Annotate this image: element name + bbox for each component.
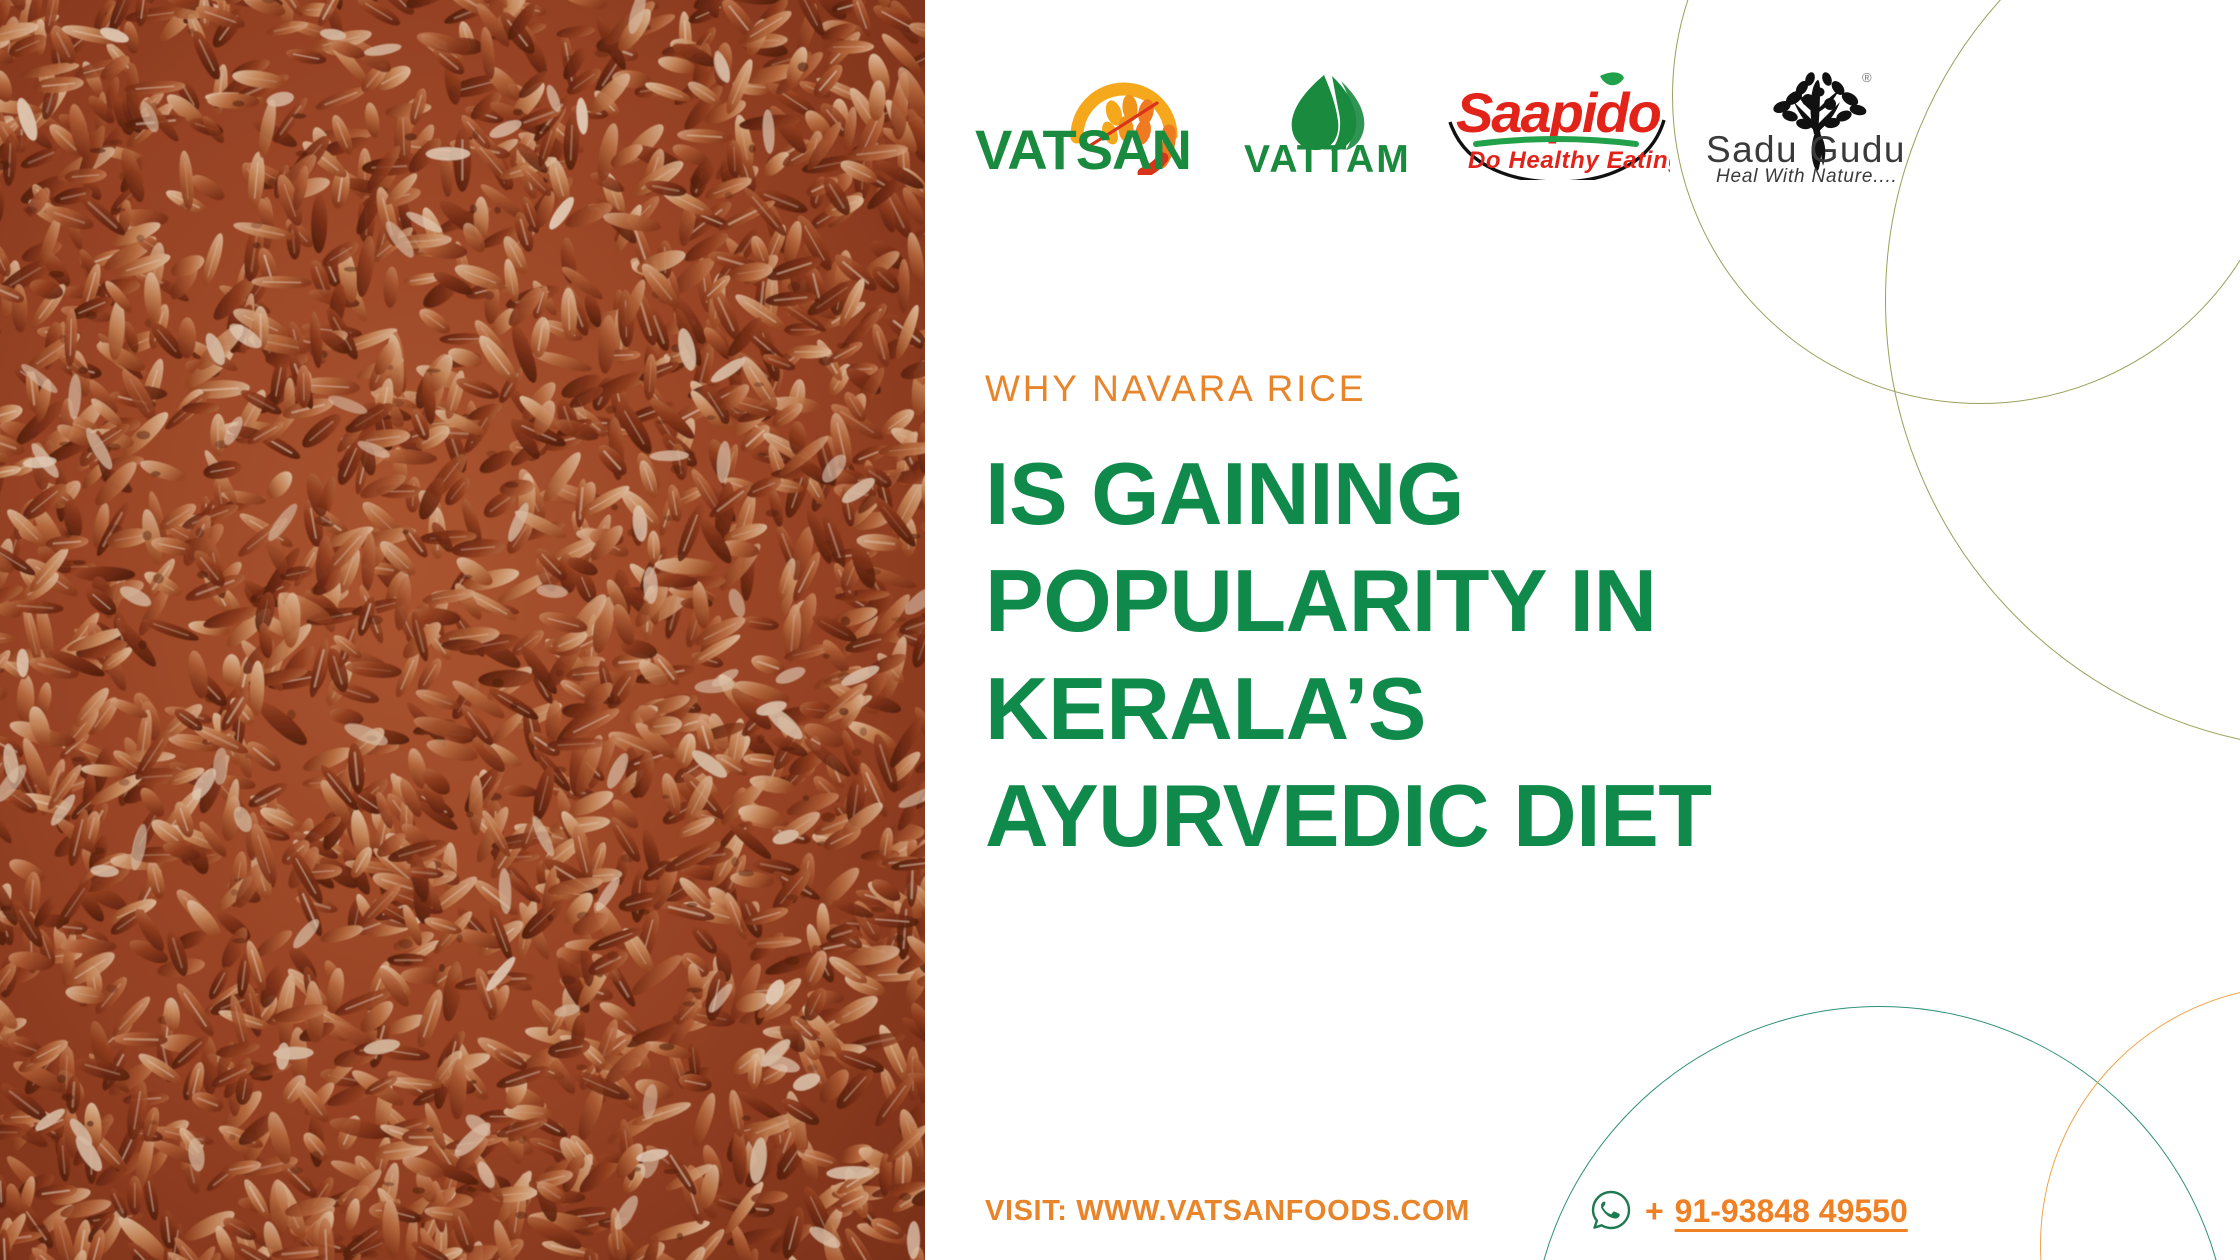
headline-line-3: KERALA’S	[985, 655, 2165, 762]
phone-prefix: +	[1645, 1193, 1664, 1230]
headline-line-2: POPULARITY IN	[985, 547, 2165, 654]
vatsan-wordmark: VATSAN	[975, 118, 1191, 175]
brand-logo-row: VATSAN VATTAM Saapido Do Healthy Eatin	[965, 46, 2180, 194]
saapido-wordmark: Saapido	[1456, 81, 1661, 144]
vattam-logo[interactable]: VATTAM	[1230, 46, 1430, 194]
footer-contact-bar: VISIT: WWW.VATSANFOODS.COM + 91-93848 49…	[985, 1183, 2080, 1239]
phone-contact-group[interactable]: + 91-93848 49550	[1588, 1188, 1908, 1234]
hero-rice-image	[0, 0, 925, 1260]
headline-line-4: AYURVEDIC DIET	[985, 762, 2165, 869]
page-title: IS GAINING POPULARITY IN KERALA’S AYURVE…	[985, 440, 2165, 869]
headline-eyebrow: WHY NAVARA RICE	[985, 370, 2165, 407]
headline-block: WHY NAVARA RICE IS GAINING POPULARITY IN…	[985, 370, 2165, 869]
sadu-gudu-wordmark: Sadu Gudu	[1706, 129, 1906, 170]
sadu-gudu-logo[interactable]: ® Sadu Gudu Heal With Nature....	[1680, 46, 1950, 194]
vatsan-logo[interactable]: VATSAN	[965, 46, 1230, 194]
website-link[interactable]: VISIT: WWW.VATSANFOODS.COM	[985, 1195, 1470, 1228]
sadu-gudu-trademark: ®	[1862, 70, 1872, 85]
whatsapp-icon[interactable]	[1588, 1188, 1634, 1234]
phone-number[interactable]: 91-93848 49550	[1675, 1193, 1908, 1230]
vattam-wordmark: VATTAM	[1244, 138, 1411, 178]
headline-line-1: IS GAINING	[985, 440, 2165, 547]
saapido-logo[interactable]: Saapido Do Healthy Eating	[1430, 46, 1680, 194]
promo-banner: VATSAN VATTAM Saapido Do Healthy Eatin	[0, 0, 2240, 1260]
saapido-tagline: Do Healthy Eating	[1468, 147, 1670, 174]
sadu-gudu-tagline: Heal With Nature....	[1716, 166, 1898, 186]
